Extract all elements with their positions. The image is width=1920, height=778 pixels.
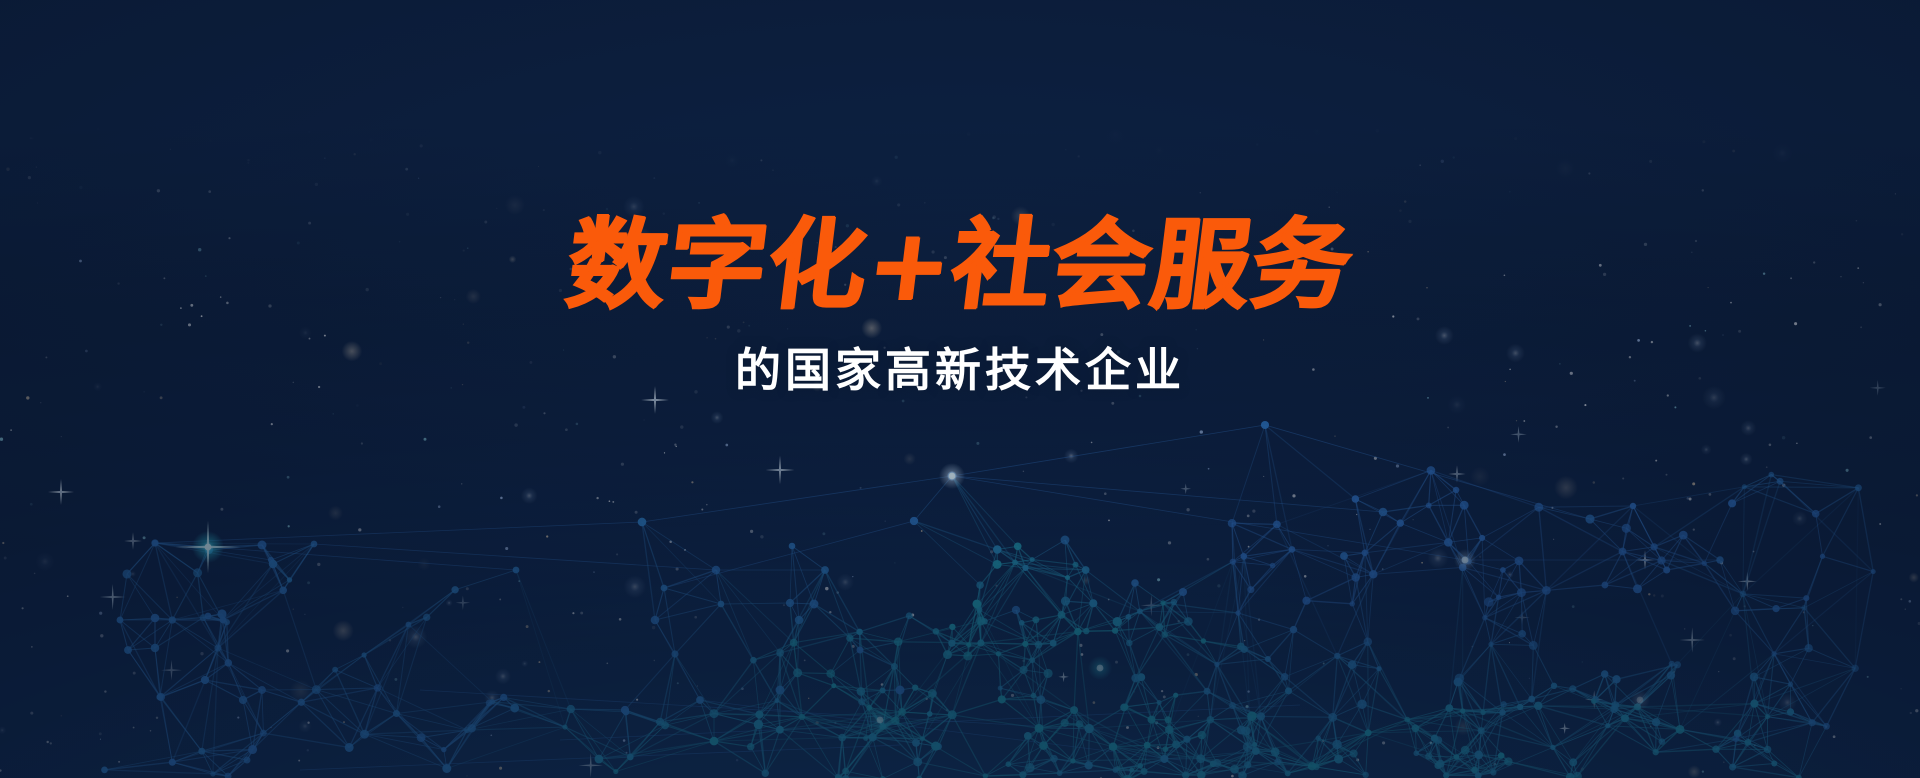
banner-subtitle: 的国家高新技术企业 (0, 334, 1920, 400)
banner-text-block: 数字化+社会服务 的国家高新技术企业 (0, 216, 1920, 400)
banner-title: 数字化+社会服务 (0, 216, 1920, 318)
hero-banner: 数字化+社会服务 的国家高新技术企业 (0, 0, 1920, 778)
